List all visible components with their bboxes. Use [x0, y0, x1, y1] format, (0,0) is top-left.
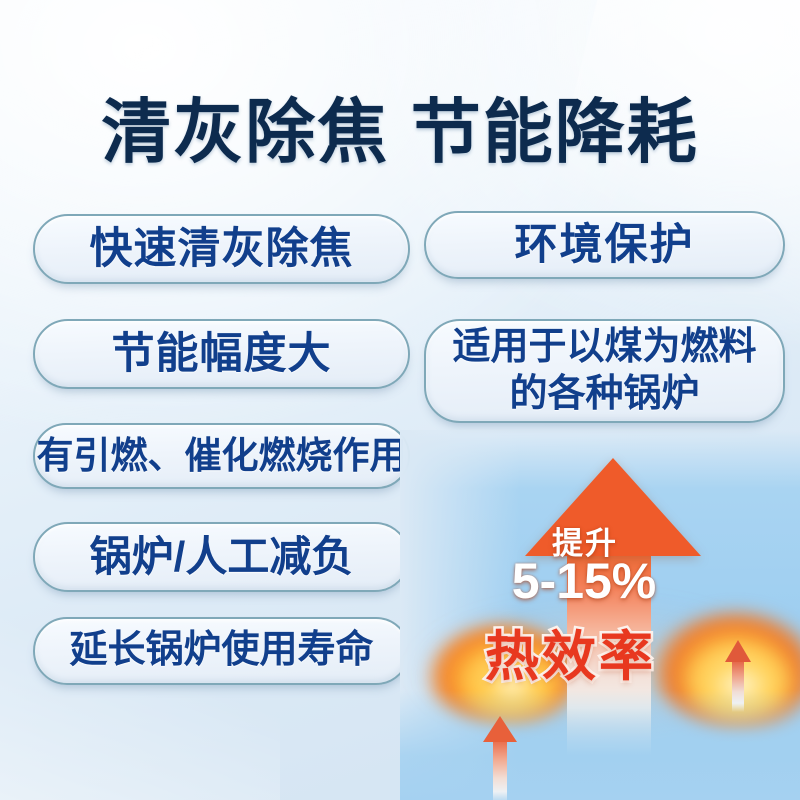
thermal-efficiency-graphic: 提升 5-15% 热效率 — [400, 430, 800, 800]
small-arrow-shaft — [732, 662, 744, 712]
feature-pill-label: 锅炉/人工减负 — [90, 534, 354, 579]
small-arrow-head — [483, 716, 517, 742]
feature-pill-fast-ash-removal[interactable]: 快速清灰除焦 — [33, 214, 410, 284]
feature-pill-environmental-protection[interactable]: 环境保护 — [424, 211, 785, 279]
page-title: 清灰除焦 节能降耗 — [0, 76, 800, 177]
feature-pill-extend-boiler-life[interactable]: 延长锅炉使用寿命 — [33, 617, 410, 685]
main-up-arrow-head — [525, 458, 701, 556]
feature-pill-label-line2: 的各种锅炉 — [509, 374, 699, 415]
feature-pill-catalytic-combustion[interactable]: 有引燃、催化燃烧作用 — [33, 423, 410, 489]
feature-pill-coal-fired-boilers[interactable]: 适用于以煤为燃料 的各种锅炉 — [424, 319, 785, 423]
feature-pill-label: 节能幅度大 — [112, 331, 332, 377]
thermal-efficiency-label: 热效率 — [485, 612, 656, 691]
feature-pill-energy-saving[interactable]: 节能幅度大 — [33, 319, 410, 389]
feature-pill-label: 快速清灰除焦 — [90, 226, 354, 272]
feature-pill-label: 延长锅炉使用寿命 — [69, 630, 373, 671]
small-arrow-head — [725, 640, 751, 662]
feature-pill-label: 环境保护 — [515, 222, 695, 268]
small-arrow-shaft — [493, 742, 507, 800]
feature-pill-label-line1: 适用于以煤为燃料 — [452, 327, 756, 368]
feature-pill-boiler-labor-reduction[interactable]: 锅炉/人工减负 — [33, 522, 410, 592]
feature-pill-label: 有引燃、催化燃烧作用 — [37, 436, 407, 476]
